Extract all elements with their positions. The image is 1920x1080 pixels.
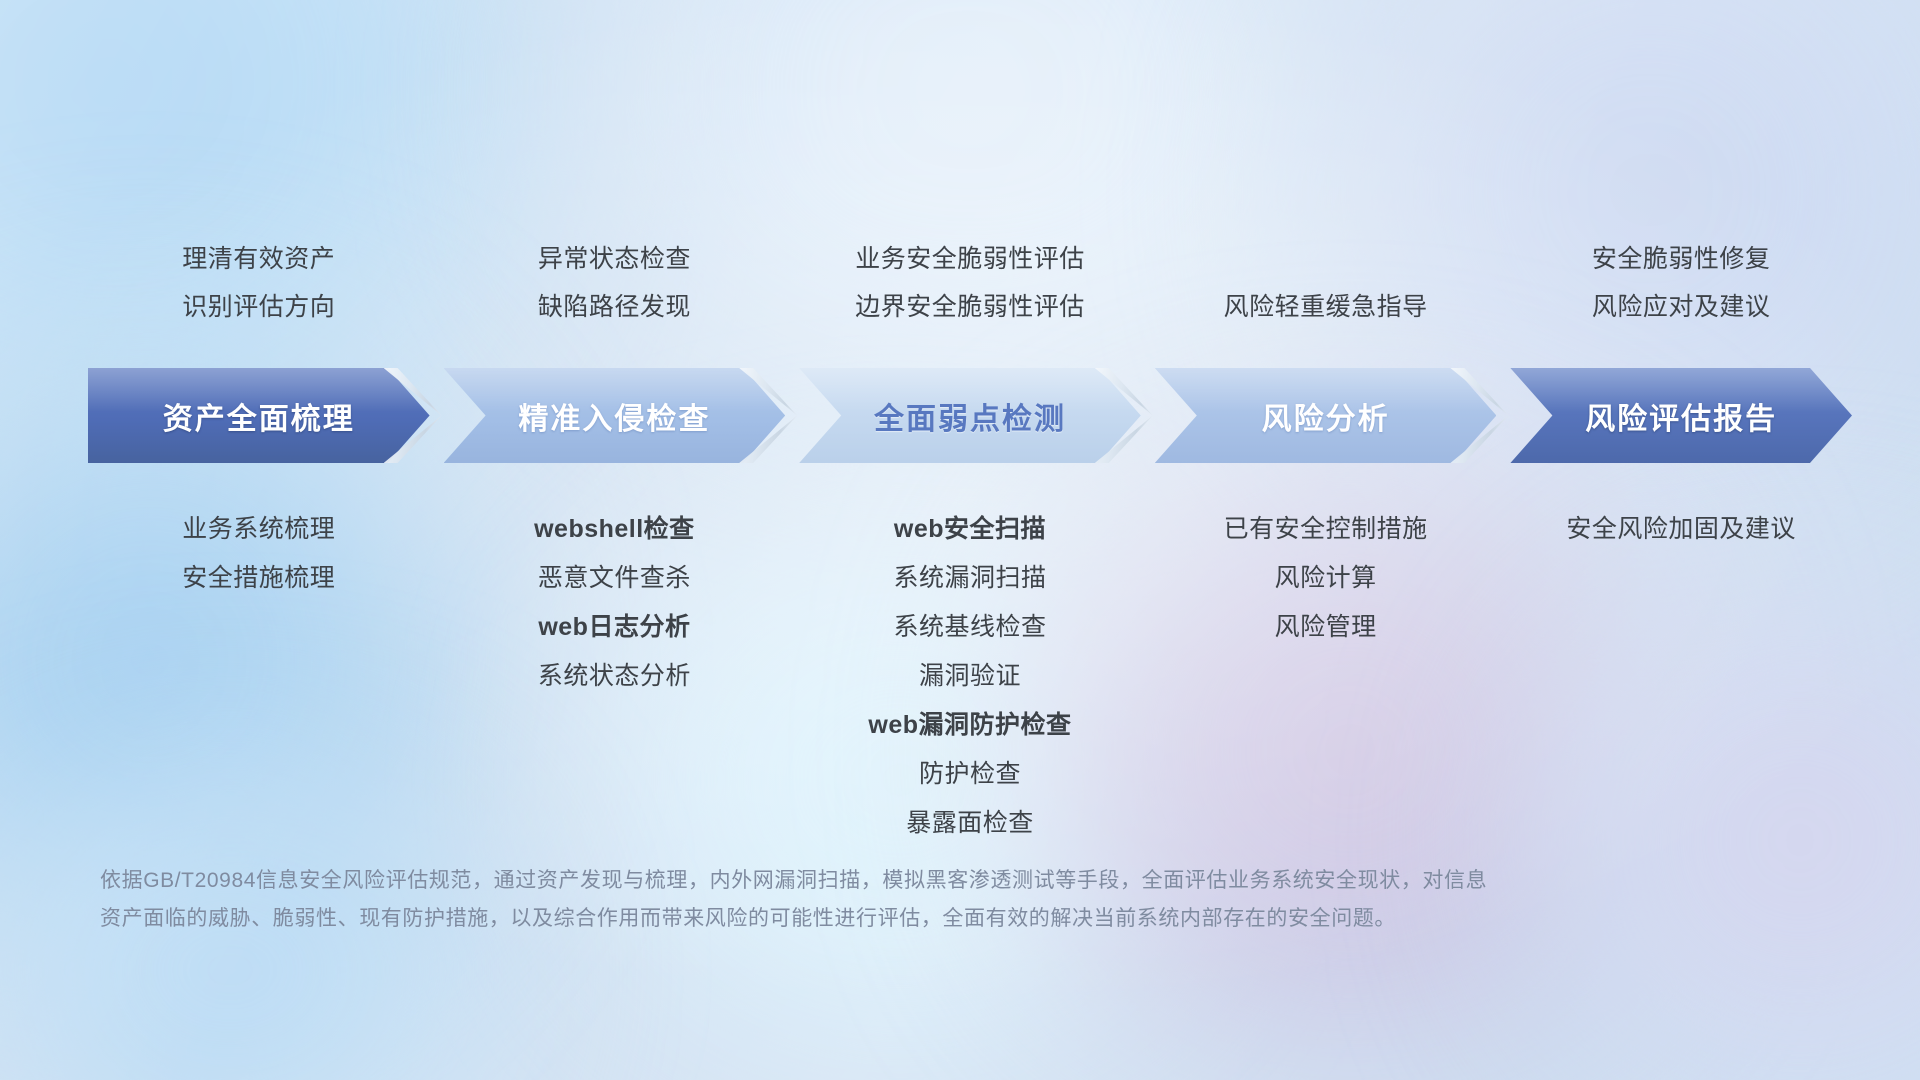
stage-top-item: 安全脆弱性修复 (1470, 235, 1892, 283)
process-diagram: 理清有效资产识别评估方向异常状态检查缺陷路径发现业务安全脆弱性评估边界安全脆弱性… (0, 0, 1920, 1080)
stage-top-items-risk-report: 安全脆弱性修复风险应对及建议 (1470, 235, 1892, 331)
stage-bottom-item: 暴露面检查 (749, 799, 1191, 848)
stage-chevron-label: 资产全面梳理 (163, 394, 355, 438)
stage-top-item: 风险应对及建议 (1470, 283, 1892, 331)
stage-top-items-row: 理清有效资产识别评估方向异常状态检查缺陷路径发现业务安全脆弱性评估边界安全脆弱性… (0, 235, 1920, 355)
stage-chevron-risk-analysis[interactable]: 风险分析 (1155, 368, 1497, 463)
footer-description: 依据GB/T20984信息安全风险评估规范，通过资产发现与梳理，内外网漏洞扫描，… (100, 862, 1840, 938)
stage-top-item: 业务安全脆弱性评估 (759, 235, 1181, 283)
stage-bottom-item: 漏洞验证 (749, 652, 1191, 701)
stage-chevron-label: 风险评估报告 (1585, 394, 1777, 438)
footer-line: 资产面临的威胁、脆弱性、现有防护措施，以及综合作用而带来风险的可能性进行评估，全… (100, 900, 1840, 938)
stage-chevron-asset-inventory[interactable]: 资产全面梳理 (88, 368, 430, 463)
stage-chevron-weakness-detection[interactable]: 全面弱点检测 (799, 368, 1141, 463)
stage-bottom-item: web漏洞防护检查 (749, 701, 1191, 750)
footer-line: 依据GB/T20984信息安全风险评估规范，通过资产发现与梳理，内外网漏洞扫描，… (100, 862, 1840, 900)
stage-chevron-band: 资产全面梳理精准入侵检查全面弱点检测风险分析风险评估报告 (0, 368, 1920, 463)
stage-bottom-items-risk-report: 安全风险加固及建议 (1460, 505, 1902, 554)
stage-bottom-item: 风险管理 (1105, 603, 1547, 652)
stage-chevron-label: 风险分析 (1262, 394, 1390, 438)
stage-chevron-intrusion-check[interactable]: 精准入侵检查 (444, 368, 786, 463)
stage-bottom-item: 防护检查 (749, 750, 1191, 799)
stage-bottom-item: 风险计算 (1105, 554, 1547, 603)
stage-chevron-label: 精准入侵检查 (518, 394, 710, 438)
stage-bottom-item: 安全风险加固及建议 (1460, 505, 1902, 554)
stage-chevron-label: 全面弱点检测 (874, 394, 1066, 438)
stage-chevron-risk-report[interactable]: 风险评估报告 (1510, 368, 1852, 463)
